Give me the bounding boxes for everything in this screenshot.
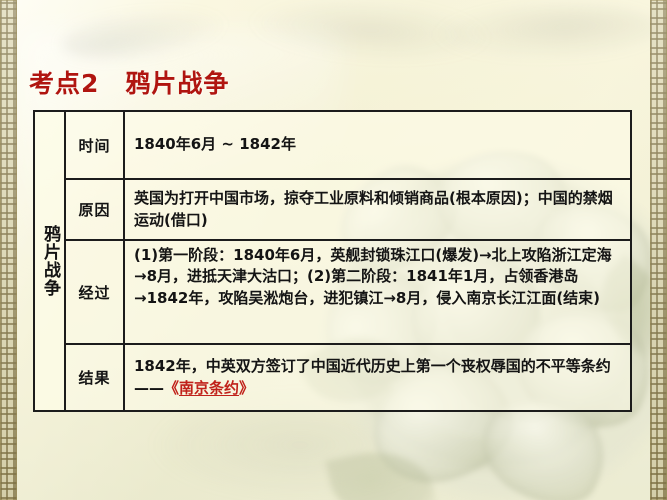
slide-canvas: 考点2 鸦片战争 鸦片战争 时间 1840年6月 ~ 1842年 原因 英国为打… — [0, 0, 667, 500]
table-row: 经过 (1)第一阶段：1840年6月，英舰封锁珠江口(爆发)→北上攻陷浙江定海→… — [66, 241, 630, 345]
ink-wash-stroke-left — [57, 0, 232, 69]
ink-wash-stroke-right — [429, 0, 662, 67]
content-table: 鸦片战争 时间 1840年6月 ~ 1842年 原因 英国为打开中国市场，掠夺工… — [33, 110, 632, 412]
row-value-time-text: 1840年6月 ~ 1842年 — [134, 134, 296, 155]
row-value-result: 1842年，中英双方签订了中国近代历史上第一个丧权辱国的不平等条约——《南京条约… — [125, 345, 630, 410]
row-value-cause: 英国为打开中国市场，掠夺工业原料和倾销商品(根本原因)；中国的禁烟运动(借口) — [125, 180, 630, 239]
ink-wash-stroke-center — [248, 0, 492, 68]
row-value-time: 1840年6月 ~ 1842年 — [125, 112, 630, 178]
row-value-process-text: (1)第一阶段：1840年6月，英舰封锁珠江口(爆发)→北上攻陷浙江定海→8月，… — [134, 245, 624, 309]
row-key-time: 时间 — [66, 112, 125, 178]
row-value-process: (1)第一阶段：1840年6月，英舰封锁珠江口(爆发)→北上攻陷浙江定海→8月，… — [125, 241, 630, 343]
key-fret-border-left — [0, 0, 17, 500]
table-row: 原因 英国为打开中国市场，掠夺工业原料和倾销商品(根本原因)；中国的禁烟运动(借… — [66, 180, 630, 241]
row-value-cause-text: 英国为打开中国市场，掠夺工业原料和倾销商品(根本原因)；中国的禁烟运动(借口) — [134, 188, 624, 231]
bracket-open: 《 — [164, 379, 179, 397]
bracket-close: 》 — [239, 379, 254, 397]
row-value-result-text: 1842年，中英双方签订了中国近代历史上第一个丧权辱国的不平等条约——《南京条约… — [134, 356, 624, 399]
table-body: 时间 1840年6月 ~ 1842年 原因 英国为打开中国市场，掠夺工业原料和倾… — [66, 112, 630, 410]
treaty-name-link[interactable]: 南京条约 — [179, 379, 239, 397]
table-row: 时间 1840年6月 ~ 1842年 — [66, 112, 630, 180]
page-title: 考点2 鸦片战争 — [29, 64, 229, 100]
row-key-process: 经过 — [66, 241, 125, 343]
vertical-header-label: 鸦片战争 — [40, 225, 59, 297]
table-row: 结果 1842年，中英双方签订了中国近代历史上第一个丧权辱国的不平等条约——《南… — [66, 345, 630, 410]
row-key-cause: 原因 — [66, 180, 125, 239]
key-fret-border-right — [650, 0, 667, 500]
table-vertical-header: 鸦片战争 — [35, 112, 66, 410]
row-key-result: 结果 — [66, 345, 125, 410]
